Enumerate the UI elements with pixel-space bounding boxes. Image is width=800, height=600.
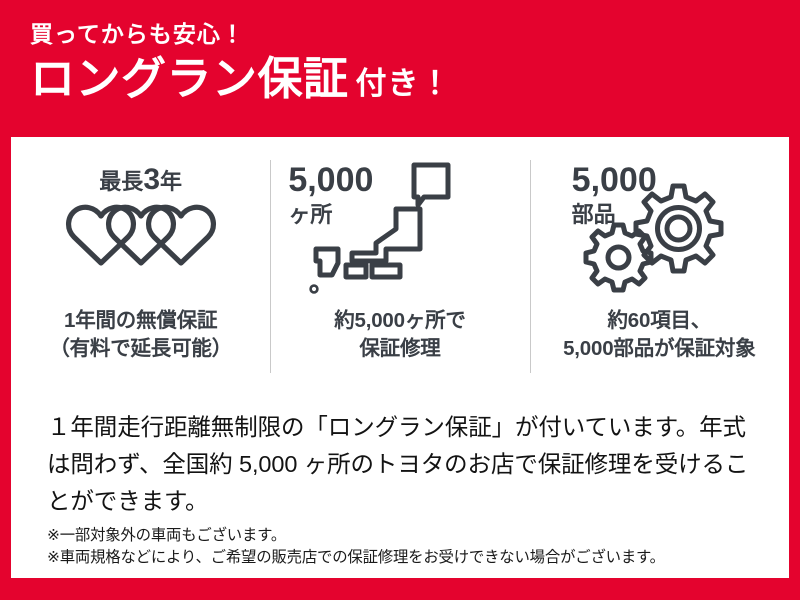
caption-line-2: 保証修理 <box>334 335 466 363</box>
badge-unit: 年 <box>160 169 182 194</box>
feature-graphic-years: 最長3年 <box>11 155 270 307</box>
header-subtitle: 買ってからも安心！ <box>30 22 800 47</box>
feature-column-locations: 5,000 ヶ所 約5,000ヶ所で 保証修理 <box>270 155 529 383</box>
feature-columns: 最長3年 1年間の無償保証 （有料で延長可能 <box>11 155 789 383</box>
feature-column-parts: 5,000 部品 約60項目、 5,000部品が保証対象 <box>530 155 789 383</box>
caption-line-1: 約5,000ヶ所で <box>334 307 466 335</box>
feature-graphic-parts: 5,000 部品 <box>530 155 789 307</box>
disclaimer-line-2: ※車両規格などにより、ご希望の販売店での保証修理をお受けできない場合がございます… <box>47 547 773 569</box>
header-banner: 買ってからも安心！ ロングラン保証付き！ <box>0 0 800 137</box>
feature-column-warranty-years: 最長3年 1年間の無償保証 （有料で延長可能 <box>11 155 270 383</box>
feature-caption-parts: 約60項目、 5,000部品が保証対象 <box>563 307 755 364</box>
warranty-poster: 買ってからも安心！ ロングラン保証付き！ 最長3年 <box>0 0 800 600</box>
caption-line-1: 約60項目、 <box>563 307 755 335</box>
disclaimer-notes: ※一部対象外の車両もございます。 ※車両規格などにより、ご希望の販売店での保証修… <box>47 525 773 570</box>
content-card: 最長3年 1年間の無償保証 （有料で延長可能 <box>11 137 789 578</box>
body-paragraph: １年間走行距離無制限の「ロングラン保証」が付いています。年式は問わず、全国約 5… <box>47 409 763 520</box>
badge-number: 3 <box>143 163 160 196</box>
feature-caption-locations: 約5,000ヶ所で 保証修理 <box>334 307 466 364</box>
feature-graphic-locations: 5,000 ヶ所 <box>270 155 529 307</box>
header-title-main: ロングラン保証 <box>30 53 349 104</box>
caption-line-2: （有料で延長可能） <box>49 335 232 363</box>
badge-unit: 部品 <box>572 204 657 226</box>
badge-unit: ヶ所 <box>288 204 373 226</box>
badge-number: 5,000 <box>572 163 657 197</box>
caption-line-1: 1年間の無償保証 <box>49 307 232 335</box>
three-hearts-icon <box>65 201 217 267</box>
badge-max-years: 最長3年 <box>11 165 270 195</box>
header-title: ロングラン保証付き！ <box>30 56 800 101</box>
badge-locations: 5,000 ヶ所 <box>288 163 373 226</box>
header-title-suffix: 付き！ <box>349 66 452 101</box>
badge-parts: 5,000 部品 <box>572 163 657 226</box>
badge-number: 5,000 <box>288 163 373 197</box>
caption-line-2: 5,000部品が保証対象 <box>563 335 755 363</box>
badge-prefix: 最長 <box>99 169 143 194</box>
feature-caption-years: 1年間の無償保証 （有料で延長可能） <box>49 307 232 364</box>
disclaimer-line-1: ※一部対象外の車両もございます。 <box>47 525 773 547</box>
